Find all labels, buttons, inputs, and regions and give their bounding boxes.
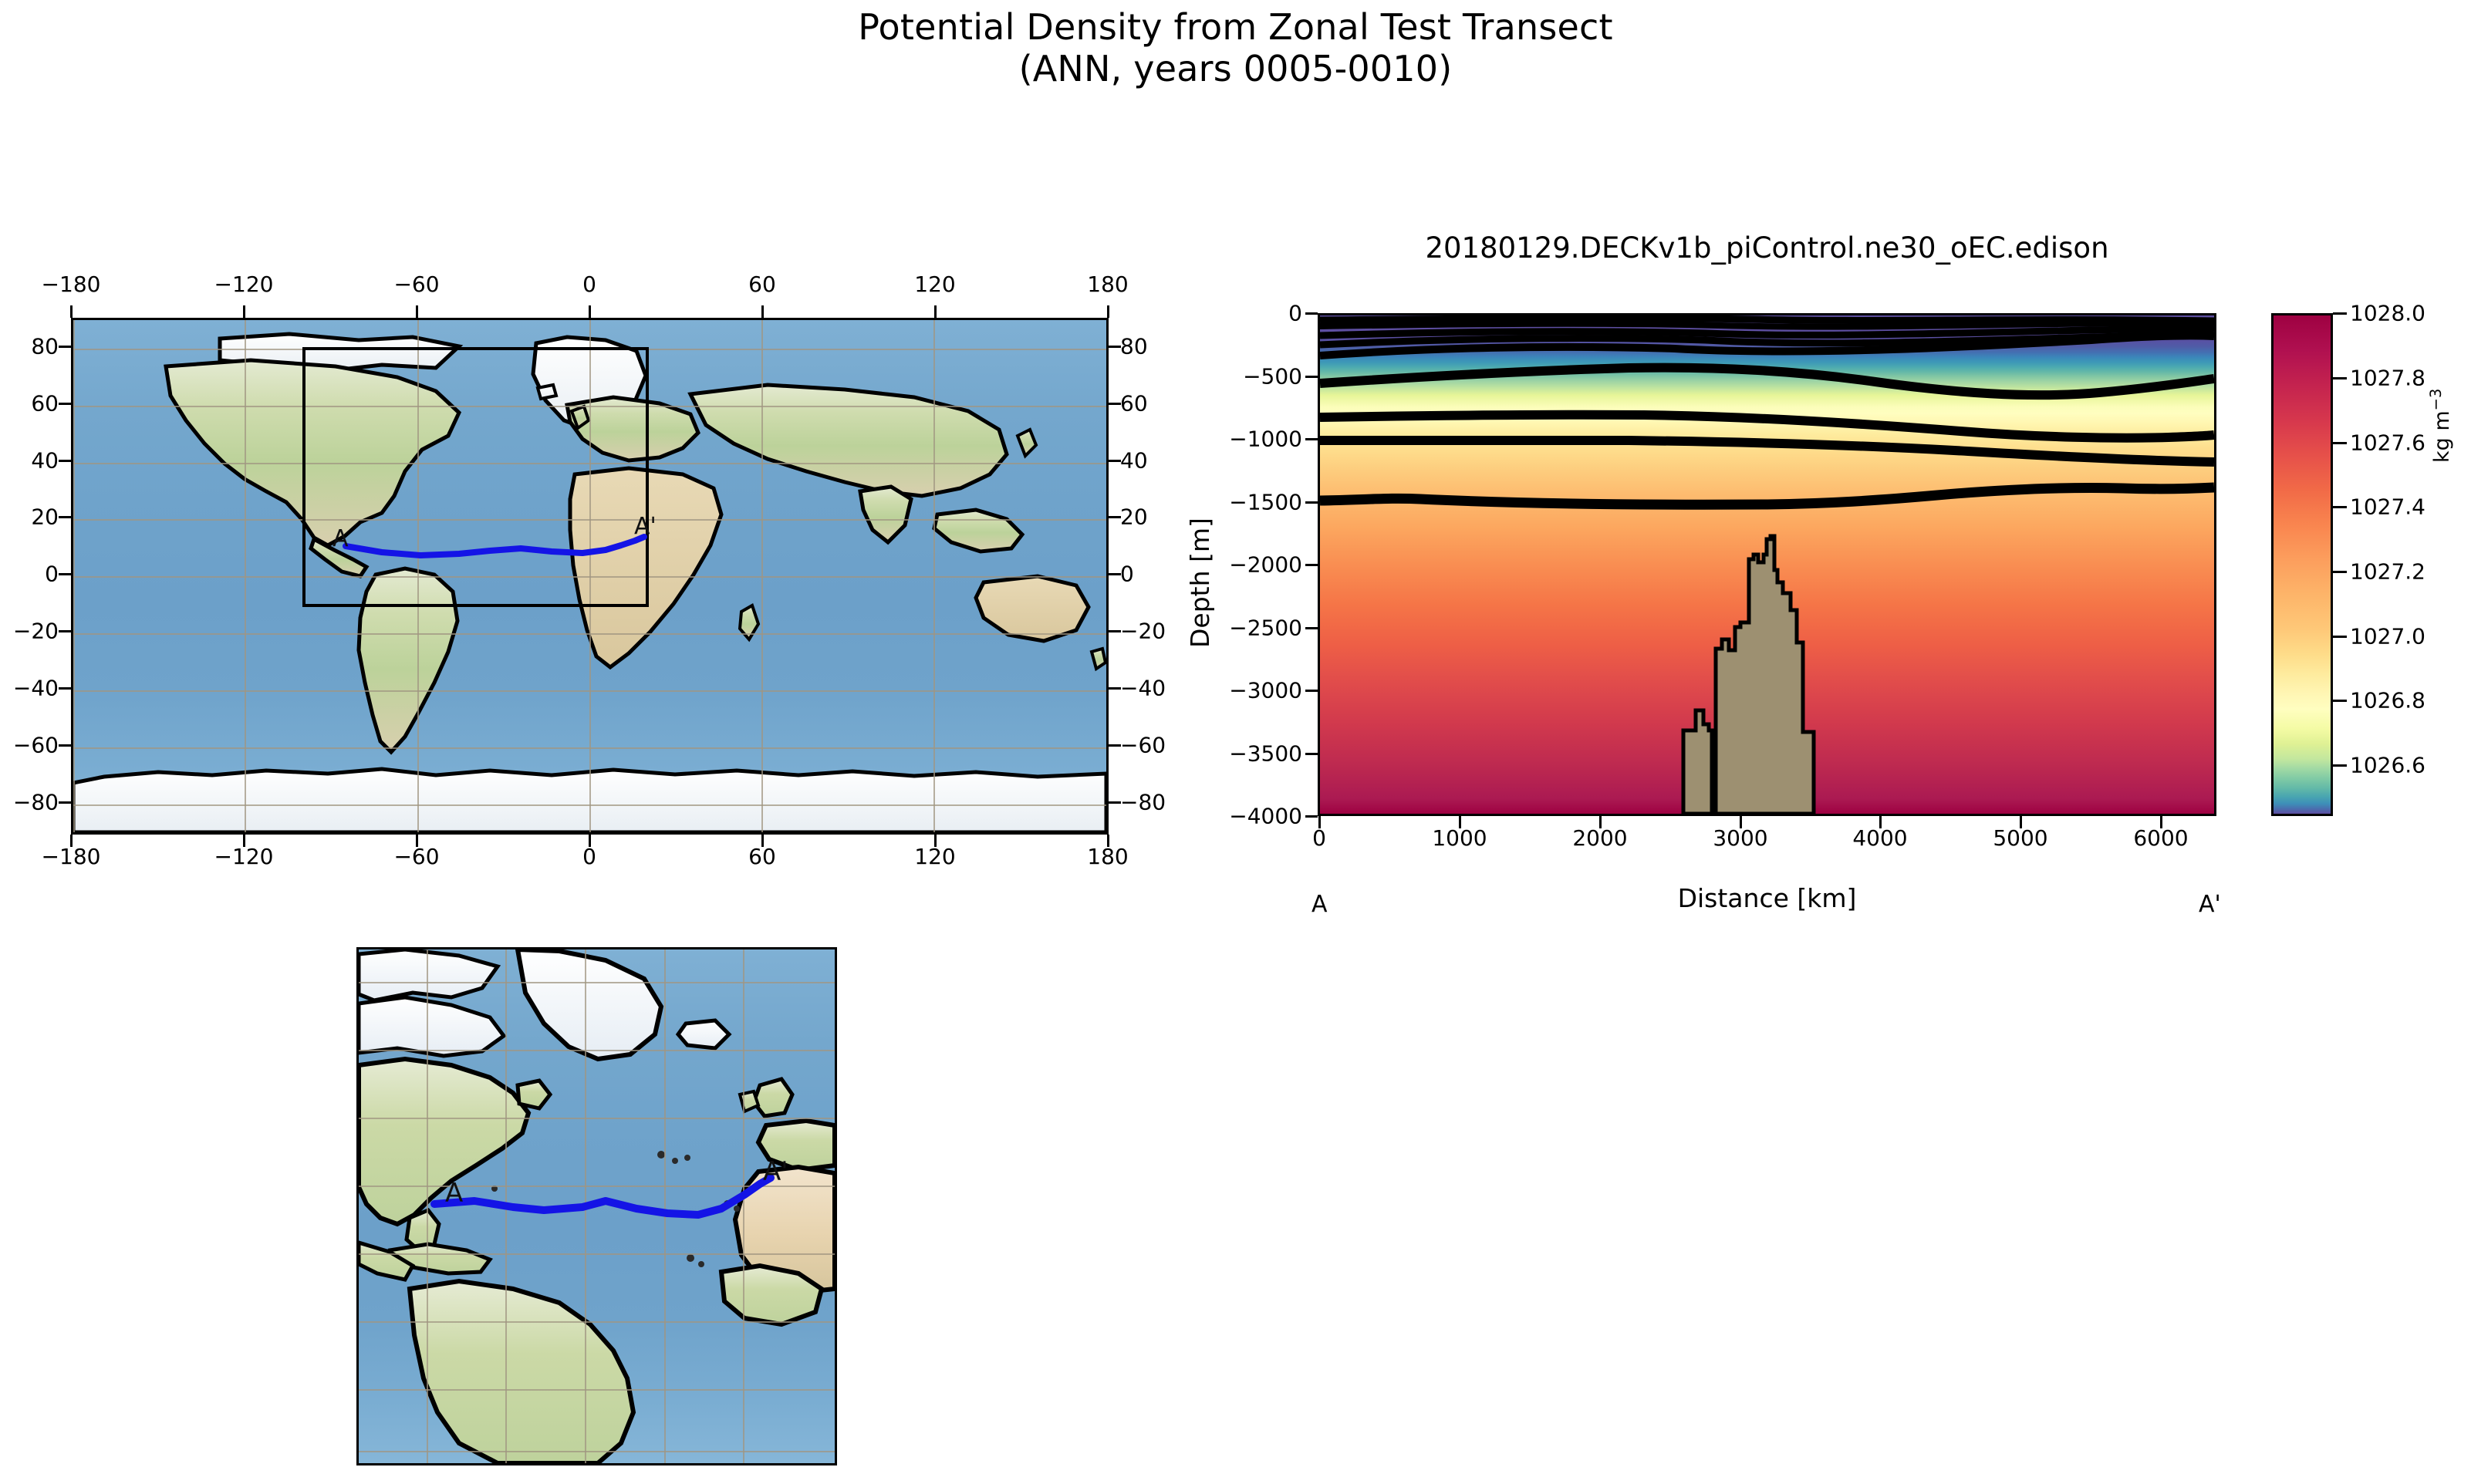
axis-tickmark <box>934 305 937 318</box>
world-lat-tick-right: −60 <box>1120 733 1166 758</box>
world-transect-end-label: A' <box>634 513 657 540</box>
axis-tickmark <box>59 403 71 405</box>
axis-tickmark <box>2333 377 2347 379</box>
axis-tickmark <box>2333 506 2347 508</box>
world-lat-tick-right: −40 <box>1120 676 1166 701</box>
axis-tickmark <box>1459 816 1461 828</box>
world-lon-tick-bottom: −180 <box>42 844 101 869</box>
axis-tickmark <box>1109 516 1121 518</box>
axis-tickmark <box>59 744 71 747</box>
axis-tickmark <box>589 305 591 318</box>
colorbar-tick: 1027.8 <box>2350 366 2425 391</box>
axis-tickmark <box>59 687 71 690</box>
world-lon-tick-top: 180 <box>1087 272 1128 297</box>
axis-tickmark <box>1305 627 1318 629</box>
transect-y-tick: 0 <box>1216 301 1302 326</box>
axis-tickmark <box>70 835 73 847</box>
density-colorbar[interactable] <box>2271 313 2333 816</box>
axis-tickmark <box>1318 816 1321 828</box>
transect-y-tick: −3500 <box>1216 741 1302 767</box>
world-lon-tick-bottom: −60 <box>393 844 439 869</box>
world-lat-tick-right: 40 <box>1120 448 1148 474</box>
axis-tickmark <box>416 835 418 847</box>
world-map-canvas: A A' <box>73 320 1106 832</box>
world-lat-tick-left: 60 <box>15 391 59 417</box>
axis-tickmark <box>2020 816 2022 828</box>
axis-tickmark <box>1305 376 1318 378</box>
colorbar-tick: 1027.4 <box>2350 494 2425 520</box>
axis-tickmark <box>59 630 71 632</box>
axis-tickmark <box>761 835 764 847</box>
colorbar-tick: 1028.0 <box>2350 301 2425 326</box>
axis-tickmark <box>1109 573 1121 575</box>
transect-x-axis-label: Distance [km] <box>1318 883 2216 913</box>
inset-transect-end-label: A' <box>763 1156 788 1187</box>
axis-tickmark <box>1740 816 1742 828</box>
axis-tickmark <box>2333 636 2347 638</box>
axis-tickmark <box>2333 700 2347 702</box>
axis-tickmark <box>1305 312 1318 315</box>
world-lat-tick-right: −80 <box>1120 790 1166 815</box>
transect-x-tick: 4000 <box>1852 825 1907 851</box>
axis-tickmark <box>59 460 71 462</box>
axis-tickmark <box>59 573 71 575</box>
axis-tickmark <box>1305 690 1318 692</box>
axis-tickmark <box>934 835 937 847</box>
axis-tickmark <box>1879 816 1882 828</box>
axis-tickmark <box>1305 564 1318 566</box>
world-transect-start-label: A <box>333 525 349 552</box>
inset-transect-line[interactable] <box>359 949 835 1463</box>
axis-tickmark <box>1109 744 1121 747</box>
transect-x-tick: 1000 <box>1432 825 1487 851</box>
transect-y-axis-label: Depth [m] <box>1185 518 1215 648</box>
inset-map-canvas: A A' <box>359 949 835 1463</box>
world-lat-tick-right: 60 <box>1120 391 1148 417</box>
axis-tickmark <box>243 305 245 318</box>
transect-canvas <box>1320 315 2214 814</box>
axis-tickmark <box>1107 305 1109 318</box>
colorbar-tick: 1026.6 <box>2350 753 2425 778</box>
colorbar-tick: 1027.2 <box>2350 559 2425 585</box>
world-lat-tick-left: 40 <box>15 448 59 474</box>
world-lat-tick-right: 80 <box>1120 334 1148 359</box>
axis-tickmark <box>2333 571 2347 573</box>
axis-tickmark <box>59 801 71 804</box>
global-overview-map[interactable]: A A' <box>71 318 1109 835</box>
axis-tickmark <box>1599 816 1602 828</box>
world-lon-tick-top: −180 <box>42 272 101 297</box>
north-atlantic-detail-map[interactable]: A A' <box>356 947 837 1465</box>
world-lat-tick-right: 20 <box>1120 504 1148 530</box>
axis-tickmark <box>70 305 73 318</box>
axis-tickmark <box>1305 753 1318 755</box>
world-lon-tick-top: 0 <box>582 272 596 297</box>
axis-tickmark <box>2160 816 2162 828</box>
transect-y-tick: −3000 <box>1216 678 1302 703</box>
world-lat-tick-right: −20 <box>1120 619 1166 644</box>
axis-tickmark <box>761 305 764 318</box>
axis-tickmark <box>1305 815 1318 818</box>
transect-x-tick: 5000 <box>1993 825 2047 851</box>
axis-tickmark <box>1109 346 1121 348</box>
world-lat-tick-right: 0 <box>1120 562 1134 587</box>
axis-tickmark <box>243 835 245 847</box>
colorbar-unit-label: kg m−3 <box>2427 389 2454 463</box>
world-lon-tick-bottom: 60 <box>748 844 776 869</box>
transect-start-endpoint-label: A <box>1311 891 1328 918</box>
transect-y-tick: −500 <box>1216 364 1302 390</box>
suptitle-line-1: Potential Density from Zonal Test Transe… <box>0 6 2471 48</box>
suptitle-line-2: (ANN, years 0005-0010) <box>0 48 2471 89</box>
transect-y-tick: −2000 <box>1216 552 1302 578</box>
colorbar-tick: 1027.6 <box>2350 430 2425 456</box>
world-lon-tick-top: 60 <box>748 272 776 297</box>
axis-tickmark <box>2333 764 2347 767</box>
world-lon-tick-top: −120 <box>214 272 274 297</box>
transect-x-tick: 6000 <box>2133 825 2188 851</box>
world-lon-tick-top: 120 <box>914 272 955 297</box>
axis-tickmark <box>1109 630 1121 632</box>
world-lat-tick-left: −20 <box>6 619 59 644</box>
axis-tickmark <box>589 835 591 847</box>
transect-x-tick: 3000 <box>1713 825 1767 851</box>
world-lat-tick-left: −40 <box>6 676 59 701</box>
axis-tickmark <box>1107 835 1109 847</box>
figure-suptitle: Potential Density from Zonal Test Transe… <box>0 6 2471 90</box>
transect-end-endpoint-label: A' <box>2199 891 2221 918</box>
inset-transect-start-label: A <box>445 1178 463 1209</box>
world-lat-tick-left: 0 <box>15 562 59 587</box>
colorbar-unit-text: kg m <box>2430 410 2454 463</box>
density-transect-plot[interactable] <box>1318 313 2216 816</box>
axis-tickmark <box>2333 442 2347 444</box>
axis-tickmark <box>59 346 71 348</box>
colorbar-tick: 1027.0 <box>2350 624 2425 649</box>
axis-tickmark <box>1305 438 1318 440</box>
world-transect-line[interactable] <box>73 320 1106 832</box>
transect-plot-title: 20180129.DECKv1b_piControl.ne30_oEC.edis… <box>1318 231 2216 265</box>
world-lat-tick-left: 20 <box>15 504 59 530</box>
axis-tickmark <box>59 516 71 518</box>
transect-x-tick: 2000 <box>1572 825 1627 851</box>
axis-tickmark <box>416 305 418 318</box>
transect-x-tick: 0 <box>1312 825 1326 851</box>
axis-tickmark <box>1305 501 1318 504</box>
axis-tickmark <box>1109 460 1121 462</box>
colorbar-unit-exponent: −3 <box>2427 389 2445 411</box>
world-lat-tick-left: 80 <box>15 334 59 359</box>
axis-tickmark <box>1109 687 1121 690</box>
world-lon-tick-bottom: −120 <box>214 844 274 869</box>
world-lon-tick-bottom: 180 <box>1087 844 1128 869</box>
transect-y-tick: −2500 <box>1216 616 1302 641</box>
axis-tickmark <box>1109 403 1121 405</box>
axis-tickmark <box>2333 312 2347 315</box>
transect-y-tick: −1500 <box>1216 490 1302 515</box>
world-lon-tick-bottom: 0 <box>582 844 596 869</box>
world-lon-tick-bottom: 120 <box>914 844 955 869</box>
colorbar-tick: 1026.8 <box>2350 688 2425 713</box>
world-lat-tick-left: −80 <box>6 790 59 815</box>
transect-y-tick: −4000 <box>1216 804 1302 829</box>
colorbar-gradient <box>2271 313 2333 816</box>
transect-y-tick: −1000 <box>1216 427 1302 452</box>
axis-tickmark <box>1109 801 1121 804</box>
world-lon-tick-top: −60 <box>393 272 439 297</box>
world-lat-tick-left: −60 <box>6 733 59 758</box>
bathymetry-midatlantic-ridge <box>1320 315 2214 814</box>
